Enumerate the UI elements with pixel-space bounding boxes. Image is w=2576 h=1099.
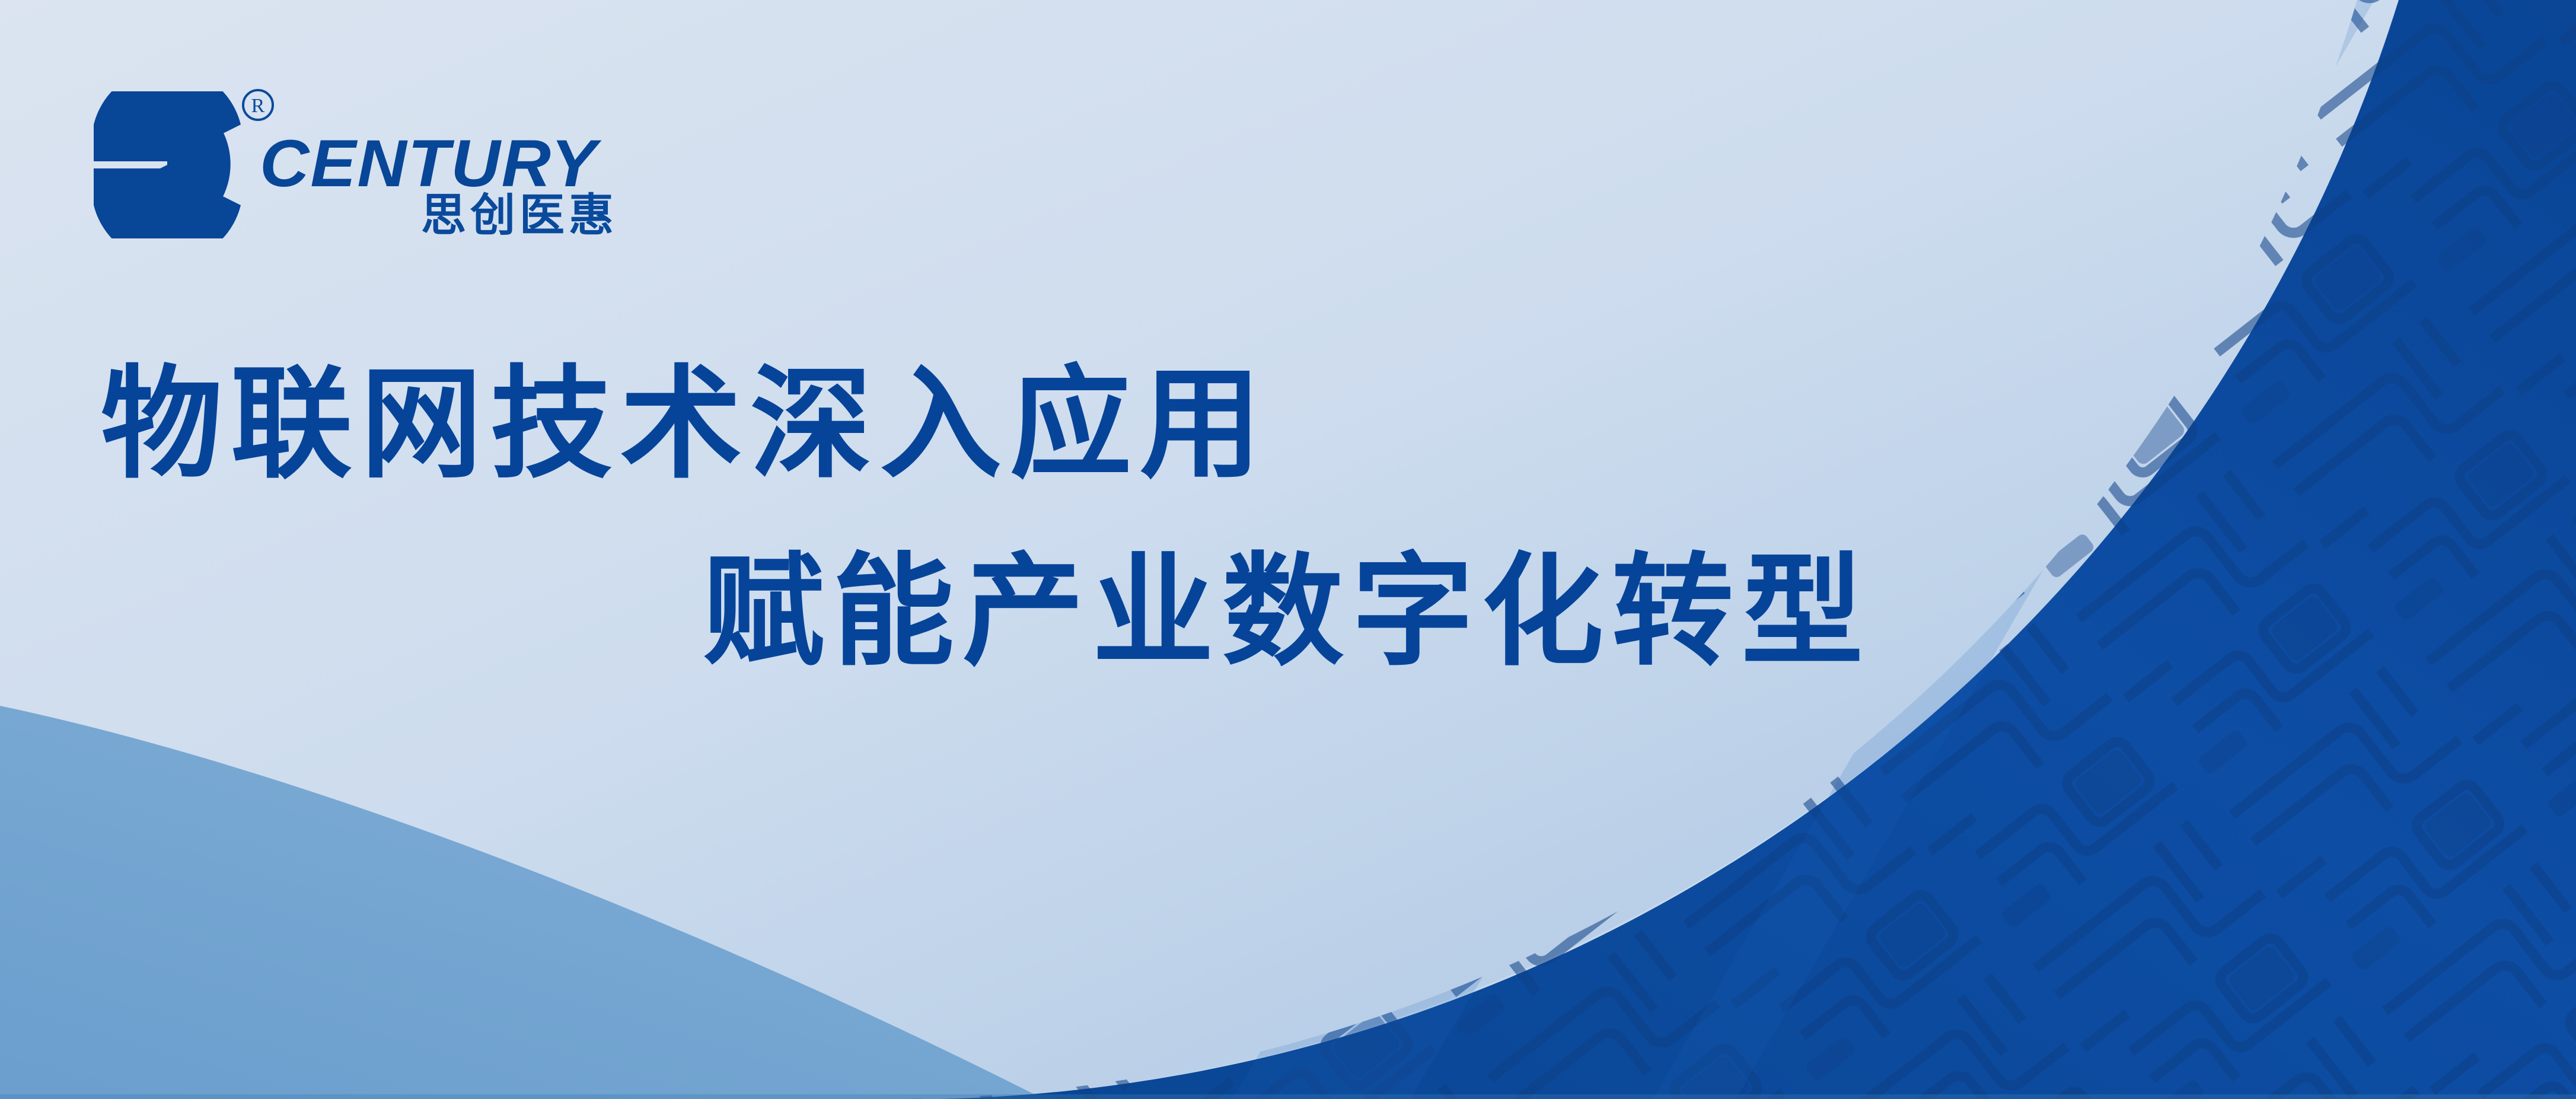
banner-root: R CENTURY 思创医惠 物联网技术深入应用 赋能产业数字化转型: [0, 0, 2576, 1099]
logo-chinese-name: 思创医惠: [421, 193, 618, 238]
headline-line-1: 物联网技术深入应用: [101, 364, 1270, 486]
century-c-mark-icon: [94, 91, 243, 238]
svg-text:R: R: [251, 95, 265, 117]
bottom-edge-line: [0, 1094, 2576, 1099]
headline-line-2: 赋能产业数字化转型: [703, 552, 1872, 673]
registered-trademark-icon: R: [241, 88, 275, 122]
company-logo[interactable]: R CENTURY 思创医惠: [94, 83, 616, 261]
logo-wordmark: CENTURY: [260, 130, 598, 197]
